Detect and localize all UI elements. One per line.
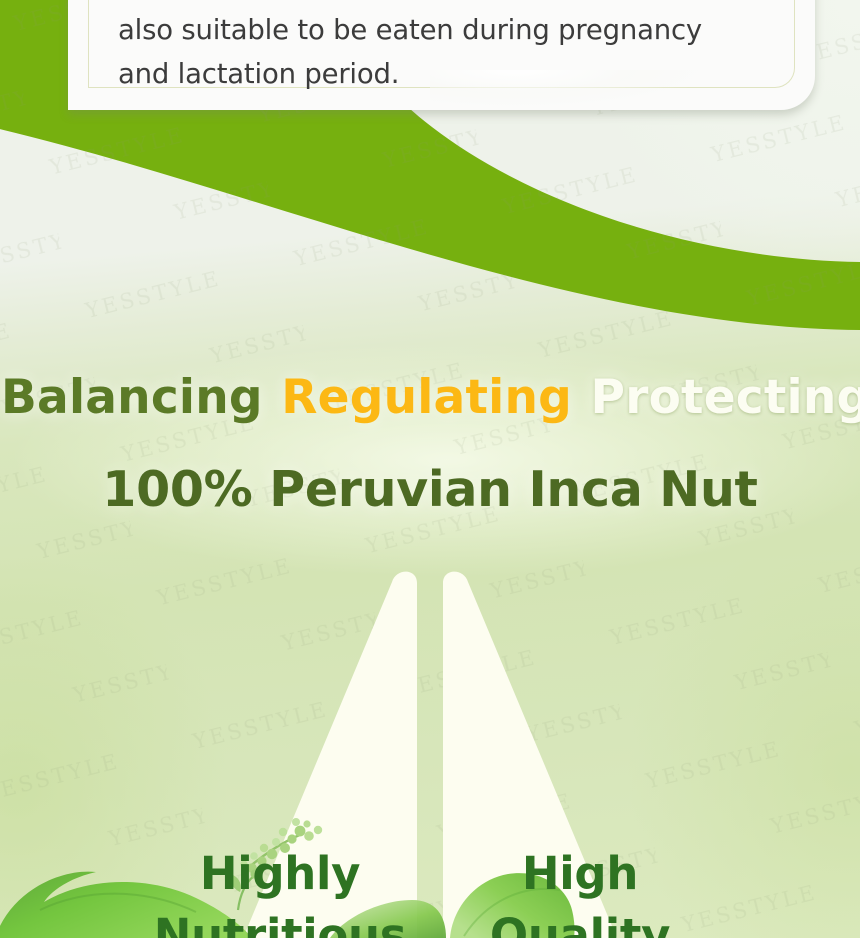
headline-subtitle: 100% Peruvian Inca Nut — [0, 461, 860, 518]
feature-right-line1: High — [522, 847, 638, 900]
headline-word-balancing: Balancing — [0, 370, 264, 425]
headline-word-regulating: Regulating — [280, 370, 573, 425]
feature-left-line2: Nutritious — [130, 905, 430, 938]
feature-label-highly-nutritious: Highly Nutritious — [130, 843, 430, 938]
info-card-body-text: also suitable to be eaten during pregnan… — [118, 8, 766, 96]
headline-row: Balancing Regulating Protecting — [0, 370, 860, 425]
info-card: also suitable to be eaten during pregnan… — [68, 0, 815, 110]
product-banner: YESSTYLE YESSTYLE also suitable to be ea… — [0, 0, 860, 938]
feature-left-line1: Highly — [200, 847, 360, 900]
feature-label-high-quality: High Quality — [430, 843, 730, 938]
headline-word-protecting: Protecting — [590, 370, 860, 425]
feature-right-line2: Quality — [430, 905, 730, 938]
